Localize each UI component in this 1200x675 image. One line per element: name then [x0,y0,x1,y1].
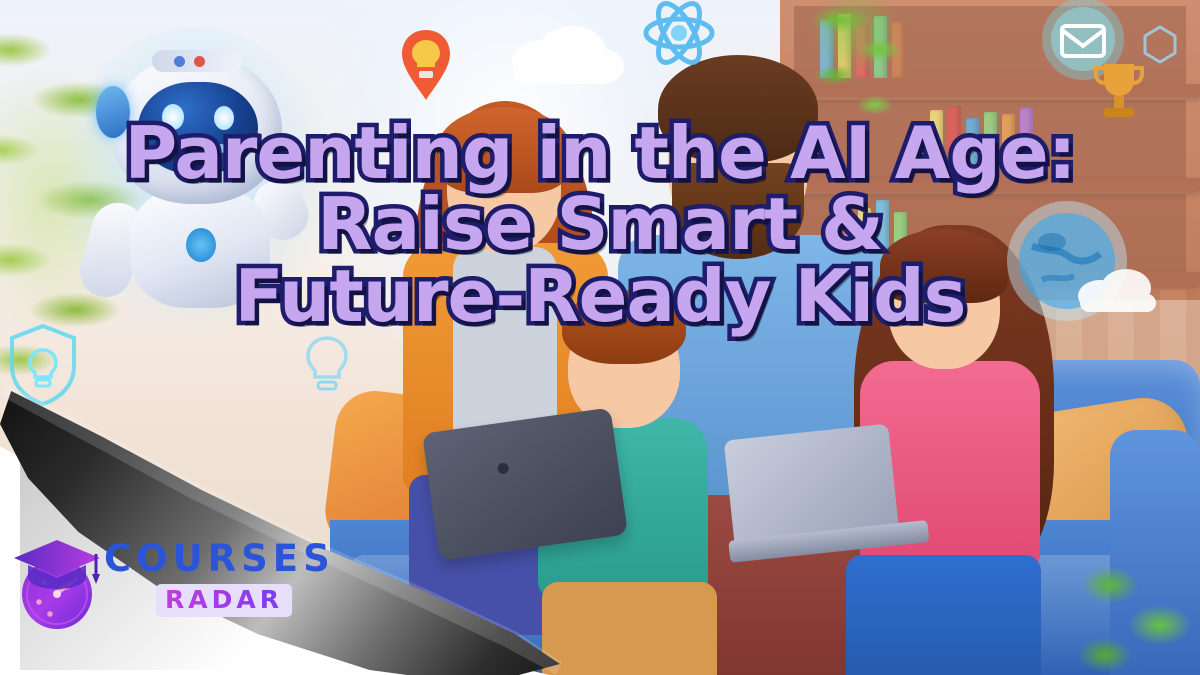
laptop-device [724,420,936,570]
logo-secondary-text: RADAR [165,585,283,614]
banner-image: Parenting in the AI Age: Raise Smart & F… [0,0,1200,675]
beard [672,163,804,259]
robot-eye [162,104,184,130]
atom-icon [640,0,718,72]
robot-mouth [188,144,226,153]
tablet-device [422,407,628,560]
robot-indicator [194,56,205,67]
tablet-camera [497,462,509,474]
location-pin-lightbulb-icon [398,28,454,102]
small-cloud-icon [1070,262,1166,320]
lightbulb-icon [300,334,354,396]
hair [437,107,571,193]
robot-chest-light [186,228,216,262]
legs [846,555,1041,675]
legs [542,582,717,675]
logo-primary-text: COURSES [104,540,335,577]
cloud-icon [500,18,628,98]
robot-ear [96,86,130,138]
robot-visor [138,82,258,174]
plant-bottom-right [1050,545,1200,675]
book-row [930,108,1033,172]
ai-robot-mascot [78,52,308,322]
robot-indicator [174,56,185,67]
person-boy [520,290,750,675]
robot-eye [214,106,234,130]
hair [880,229,1008,303]
trophy-icon [1092,58,1146,124]
logo-secondary-badge: RADAR [156,584,292,617]
courses-radar-logo[interactable]: COURSES RADAR [8,524,274,636]
logo-wordmark: COURSES RADAR [104,540,335,617]
graduation-cap-radar-icon [8,532,106,632]
hair [562,290,686,364]
hexagon-icon [1140,24,1180,64]
